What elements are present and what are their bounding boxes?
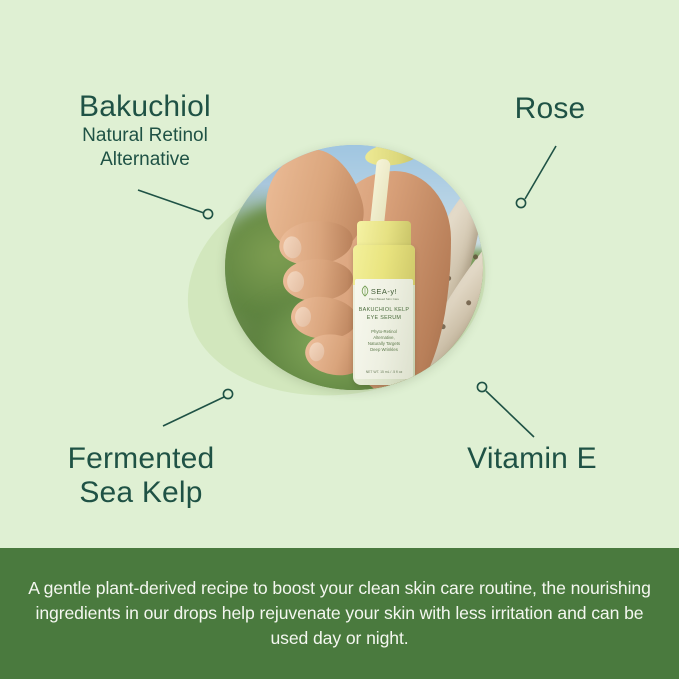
callout-bakuchiol: Bakuchiol Natural Retinol Alternative — [28, 90, 262, 172]
callout-sea-kelp-title-line2: Sea Kelp — [28, 476, 254, 510]
callout-rose: Rose — [470, 92, 630, 126]
fingernail — [282, 235, 303, 259]
callout-sea-kelp-title-line1: Fermented — [28, 442, 254, 476]
serum-bottle: SEA-y! Plant Based Skin Care BAKUCHIOL K… — [353, 245, 415, 385]
callout-rose-title: Rose — [470, 92, 630, 126]
fingernail — [308, 341, 325, 362]
bottle-label: SEA-y! Plant Based Skin Care BAKUCHIOL K… — [355, 279, 413, 379]
product-name-line1: BAKUCHIOL KELP — [355, 307, 413, 315]
product-volume: NET WT. 15 mL / .5 fl oz — [355, 370, 413, 374]
hand-holding-bottle: SEA-y! Plant Based Skin Care BAKUCHIOL K… — [261, 145, 457, 390]
product-name-line2: EYE SERUM — [355, 315, 413, 323]
callout-fermented-sea-kelp: Fermented Sea Kelp — [28, 442, 254, 510]
callout-vitamin-e: Vitamin E — [428, 442, 636, 476]
fingernail — [287, 271, 305, 293]
description-text: A gentle plant-derived recipe to boost y… — [0, 576, 679, 651]
claim-line4: Deep Wrinkles — [355, 347, 413, 353]
dropper-cap — [364, 145, 423, 169]
brand-tagline: Plant Based Skin Care — [355, 297, 413, 301]
brand-name: SEA-y! — [355, 287, 413, 296]
description-banner: A gentle plant-derived recipe to boost y… — [0, 548, 679, 679]
product-name: BAKUCHIOL KELP EYE SERUM — [355, 307, 413, 322]
callout-vitamin-e-title: Vitamin E — [428, 442, 636, 476]
product-claims: Phyto-Retinol Alternative, Naturally Tar… — [355, 329, 413, 353]
product-photo: SEA-y! Plant Based Skin Care BAKUCHIOL K… — [225, 145, 483, 390]
ingredient-infographic: SEA-y! Plant Based Skin Care BAKUCHIOL K… — [0, 0, 679, 679]
callout-bakuchiol-subtitle-line1: Natural Retinol — [28, 124, 262, 148]
callout-bakuchiol-subtitle-line2: Alternative — [28, 148, 262, 172]
callout-bakuchiol-title: Bakuchiol — [28, 90, 262, 124]
fingernail — [295, 306, 312, 327]
photo-background: SEA-y! Plant Based Skin Care BAKUCHIOL K… — [225, 145, 483, 390]
